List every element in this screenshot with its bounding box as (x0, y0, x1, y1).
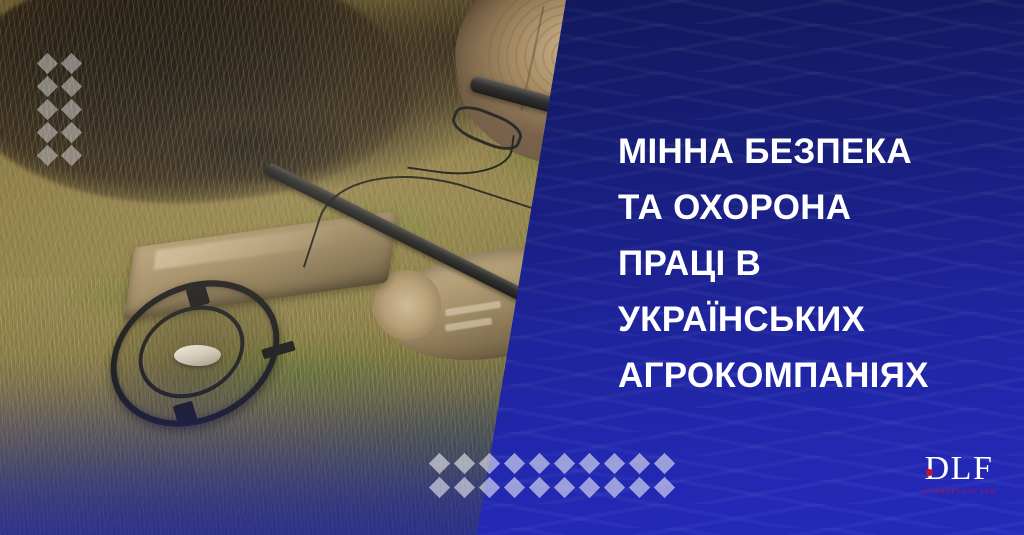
dlf-logo[interactable]: DLF ATTORNEYS AT LAW (912, 452, 1006, 496)
diamond-icon (429, 477, 450, 498)
title-line-5: АГРОКОМПАНІЯХ (618, 348, 990, 404)
diamond-icon (654, 453, 675, 474)
logo-mark-text: DLF (925, 450, 994, 487)
title-line-4: УКРАЇНСЬКИХ (618, 292, 990, 348)
title-line-1: МІННА БЕЗПЕКА (618, 124, 990, 180)
diamond-icon (429, 453, 450, 474)
diamond-icon (579, 453, 600, 474)
diamond-icon (629, 477, 650, 498)
diamond-icon (554, 477, 575, 498)
banner-title: МІННА БЕЗПЕКА ТА ОХОРОНА ПРАЦІ В УКРАЇНС… (618, 124, 990, 404)
diamond-icon (529, 453, 550, 474)
logo-tagline: ATTORNEYS AT LAW (912, 488, 1006, 496)
diamond-icon (504, 453, 525, 474)
diamond-icon (604, 477, 625, 498)
diamond-icon (479, 477, 500, 498)
diamond-icon (504, 477, 525, 498)
diamond-icon (604, 453, 625, 474)
diamond-icon (61, 99, 82, 120)
banner: МІННА БЕЗПЕКА ТА ОХОРОНА ПРАЦІ В УКРАЇНС… (0, 0, 1024, 535)
diamond-icon (529, 477, 550, 498)
diamond-icon (37, 76, 58, 97)
logo-wordmark: DLF (925, 452, 994, 486)
diamond-icon (61, 53, 82, 74)
diamond-icon (454, 453, 475, 474)
diamond-pattern-bottom (432, 456, 672, 495)
diamond-icon (454, 477, 475, 498)
diamond-icon (629, 453, 650, 474)
diamond-icon (61, 76, 82, 97)
diamond-icon (37, 99, 58, 120)
diamond-icon (579, 477, 600, 498)
diamond-icon (61, 122, 82, 143)
diamond-icon (61, 145, 82, 166)
diamond-icon (37, 53, 58, 74)
title-line-3: ПРАЦІ В (618, 236, 990, 292)
diamond-icon (37, 122, 58, 143)
diamond-icon (554, 453, 575, 474)
title-line-2: ТА ОХОРОНА (618, 180, 990, 236)
diamond-icon (654, 477, 675, 498)
diamond-pattern-left (40, 56, 79, 163)
logo-dot-icon (926, 469, 933, 476)
diamond-icon (479, 453, 500, 474)
diamond-icon (37, 145, 58, 166)
